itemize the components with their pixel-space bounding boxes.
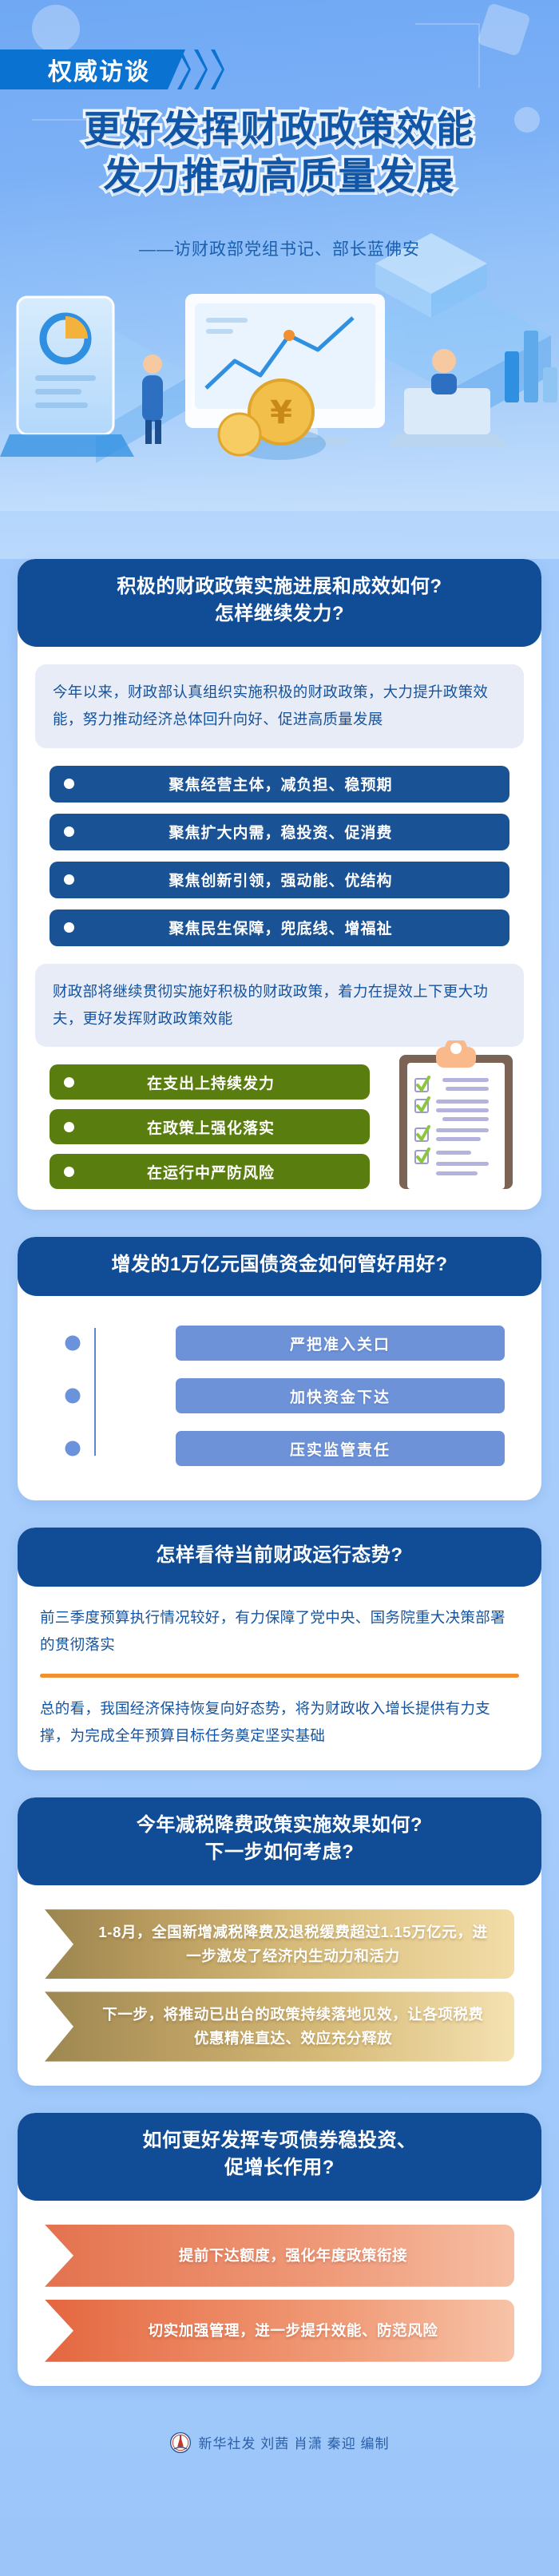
list-item-label: 提前下达额度，强化年度政策衔接 <box>96 2244 490 2268</box>
section-policy-progress: 积极的财政政策实施进展和成效如何? 怎样继续发力? 今年以来，财政部认真组织实施… <box>18 559 541 1210</box>
list-item: 下一步，将推动已出台的政策持续落地见效，让各项税费优惠精准直达、效应充分释放 <box>45 1991 514 2061</box>
list-item: 聚焦扩大内需，稳投资、促消费 <box>50 814 509 850</box>
checklist-clipboard-icon <box>396 1040 516 1192</box>
list-item: 1-8月，全国新增减税降费及退税缓费超过1.15万亿元，进一步激发了经济内生动力… <box>45 1909 514 1979</box>
card: 怎样看待当前财政运行态势? 前三季度预算执行情况较好，有力保障了党中央、国务院重… <box>18 1528 541 1770</box>
bullet-dot-icon <box>64 1167 74 1177</box>
bullet-dot-icon <box>64 874 74 885</box>
divider <box>40 1674 519 1678</box>
section-question-header: 增发的1万亿元国债资金如何管好用好? <box>18 1237 541 1296</box>
list-item-label: 下一步，将推动已出台的政策持续落地见效，让各项税费优惠精准直达、效应充分释放 <box>96 2003 490 2050</box>
section-question-header: 积极的财政政策实施进展和成效如何? 怎样继续发力? <box>18 559 541 647</box>
list-item-label: 聚焦扩大内需，稳投资、促消费 <box>92 821 495 842</box>
xinhua-logo-icon <box>170 2432 191 2453</box>
section-question-header: 今年减税降费政策实施效果如何? 下一步如何考虑? <box>18 1797 541 1885</box>
list-item-label: 在支出上持续发力 <box>92 1072 355 1093</box>
card: 今年减税降费政策实施效果如何? 下一步如何考虑? 1-8月，全国新增减税降费及退… <box>18 1797 541 2086</box>
hero-banner: ¥ 权威 <box>0 0 559 559</box>
card: 增发的1万亿元国债资金如何管好用好? 严把准入关口 加快资金下达 压实监管责任 <box>18 1237 541 1500</box>
list-item-label: 切实加强管理，进一步提升效能、防范风险 <box>96 2319 490 2343</box>
timeline-dot-icon <box>65 1336 81 1351</box>
title-line-2: 发力推动高质量发展 <box>0 153 559 200</box>
list-item-label: 1-8月，全国新增减税降费及退税缓费超过1.15万亿元，进一步激发了经济内生动力… <box>96 1920 490 1968</box>
question-line-2: 促增长作用? <box>42 2154 517 2182</box>
list-item: 在支出上持续发力 <box>50 1064 370 1100</box>
blue-pill-list: 聚焦经营主体，减负担、稳预期 聚焦扩大内需，稳投资、促消费 聚焦创新引领，强动能… <box>50 766 509 946</box>
question-line-1: 积极的财政政策实施进展和成效如何? <box>42 573 517 600</box>
question-line-2: 怎样继续发力? <box>42 600 517 628</box>
chevron-right-icon <box>211 50 224 89</box>
paragraph-policy-outlook: 财政部将继续贯彻实施好积极的财政政策，着力在提效上下更大功夫，更好发挥财政政策效… <box>35 964 524 1047</box>
question-line-2: 下一步如何考虑? <box>42 1839 517 1866</box>
card: 积极的财政政策实施进展和成效如何? 怎样继续发力? 今年以来，财政部认真组织实施… <box>18 559 541 1210</box>
infographic-page: ¥ 权威 <box>0 0 559 2576</box>
footer-credit: 新华社发 刘茜 肖潇 秦迎 编制 <box>199 2432 390 2452</box>
list-item-label: 严把准入关口 <box>176 1326 505 1361</box>
section-question-header: 怎样看待当前财政运行态势? <box>18 1528 541 1587</box>
list-item-label: 加快资金下达 <box>176 1378 505 1413</box>
question-line-1: 今年减税降费政策实施效果如何? <box>42 1812 517 1839</box>
section-special-bonds: 如何更好发挥专项债券稳投资、 促增长作用? 提前下达额度，强化年度政策衔接 切实… <box>18 2113 541 2386</box>
green-pill-list: 在支出上持续发力 在政策上强化落实 在运行中严防风险 <box>50 1064 370 1189</box>
bullet-dot-icon <box>64 826 74 837</box>
list-item: 聚焦经营主体，减负担、稳预期 <box>50 766 509 803</box>
list-item-label: 聚焦创新引领，强动能、优结构 <box>92 869 495 890</box>
list-item-label: 在运行中严防风险 <box>92 1161 355 1183</box>
chevron-right-icon <box>194 50 208 89</box>
list-item: 在政策上强化落实 <box>50 1109 370 1144</box>
paragraph-policy-intro: 今年以来，财政部认真组织实施积极的财政政策，大力提升政策效能，努力推动经济总体回… <box>35 664 524 747</box>
bullet-dot-icon <box>64 779 74 789</box>
question-line-1: 如何更好发挥专项债券稳投资、 <box>42 2127 517 2154</box>
question-line-1: 增发的1万亿元国债资金如何管好用好? <box>42 1251 517 1278</box>
svg-text:¥: ¥ <box>270 394 292 431</box>
bullet-dot-icon <box>64 922 74 933</box>
badge-label: 权威访谈 <box>0 50 185 89</box>
section-treasury-bonds: 增发的1万亿元国债资金如何管好用好? 严把准入关口 加快资金下达 压实监管责任 <box>18 1237 541 1500</box>
list-item: 聚焦创新引领，强动能、优结构 <box>50 862 509 898</box>
paragraph-budget-execution: 前三季度预算执行情况较好，有力保障了党中央、国务院重大决策部署的贯彻落实 <box>40 1601 519 1659</box>
list-item: 在运行中严防风险 <box>50 1154 370 1189</box>
authority-interview-badge: 权威访谈 <box>0 50 224 89</box>
timeline-list: 严把准入关口 加快资金下达 压实监管责任 <box>18 1317 541 1475</box>
section-tax-cuts: 今年减税降费政策实施效果如何? 下一步如何考虑? 1-8月，全国新增减税降费及退… <box>18 1797 541 2086</box>
bullet-dot-icon <box>64 1122 74 1132</box>
list-item: 提前下达额度，强化年度政策衔接 <box>45 2225 514 2287</box>
timeline-dot-icon <box>65 1389 81 1404</box>
section-question-header: 如何更好发挥专项债券稳投资、 促增长作用? <box>18 2113 541 2201</box>
page-title: 更好发挥财政政策效能 发力推动高质量发展 <box>0 105 559 200</box>
card: 如何更好发挥专项债券稳投资、 促增长作用? 提前下达额度，强化年度政策衔接 切实… <box>18 2113 541 2386</box>
list-item: 严把准入关口 <box>94 1317 505 1369</box>
list-item-label: 在政策上强化落实 <box>92 1116 355 1138</box>
timeline-dot-icon <box>65 1441 81 1456</box>
paragraph-economy-outlook: 总的看，我国经济保持恢复向好态势，将为财政收入增长提供有力支撑，为完成全年预算目… <box>40 1692 519 1750</box>
list-item-label: 聚焦经营主体，减负担、稳预期 <box>92 773 495 795</box>
red-ribbon-list: 提前下达额度，强化年度政策衔接 切实加强管理，进一步提升效能、防范风险 <box>45 2225 514 2362</box>
footer: 新华社发 刘茜 肖潇 秦迎 编制 <box>0 2413 559 2480</box>
list-item: 加快资金下达 <box>94 1369 505 1422</box>
section-fiscal-operation: 怎样看待当前财政运行态势? 前三季度预算执行情况较好，有力保障了党中央、国务院重… <box>18 1528 541 1770</box>
bullet-dot-icon <box>64 1077 74 1088</box>
page-subtitle: ——访财政部党组书记、部长蓝佛安 <box>0 236 559 260</box>
list-item-label: 压实监管责任 <box>176 1431 505 1466</box>
gold-ribbon-list: 1-8月，全国新增减税降费及退税缓费超过1.15万亿元，进一步激发了经济内生动力… <box>45 1909 514 2061</box>
list-item: 压实监管责任 <box>94 1422 505 1475</box>
title-line-1: 更好发挥财政政策效能 <box>0 105 559 153</box>
question-line-1: 怎样看待当前财政运行态势? <box>42 1542 517 1569</box>
list-item: 切实加强管理，进一步提升效能、防范风险 <box>45 2300 514 2362</box>
list-item-label: 聚焦民生保障，兜底线、增福祉 <box>92 917 495 938</box>
list-item: 聚焦民生保障，兜底线、增福祉 <box>50 910 509 946</box>
